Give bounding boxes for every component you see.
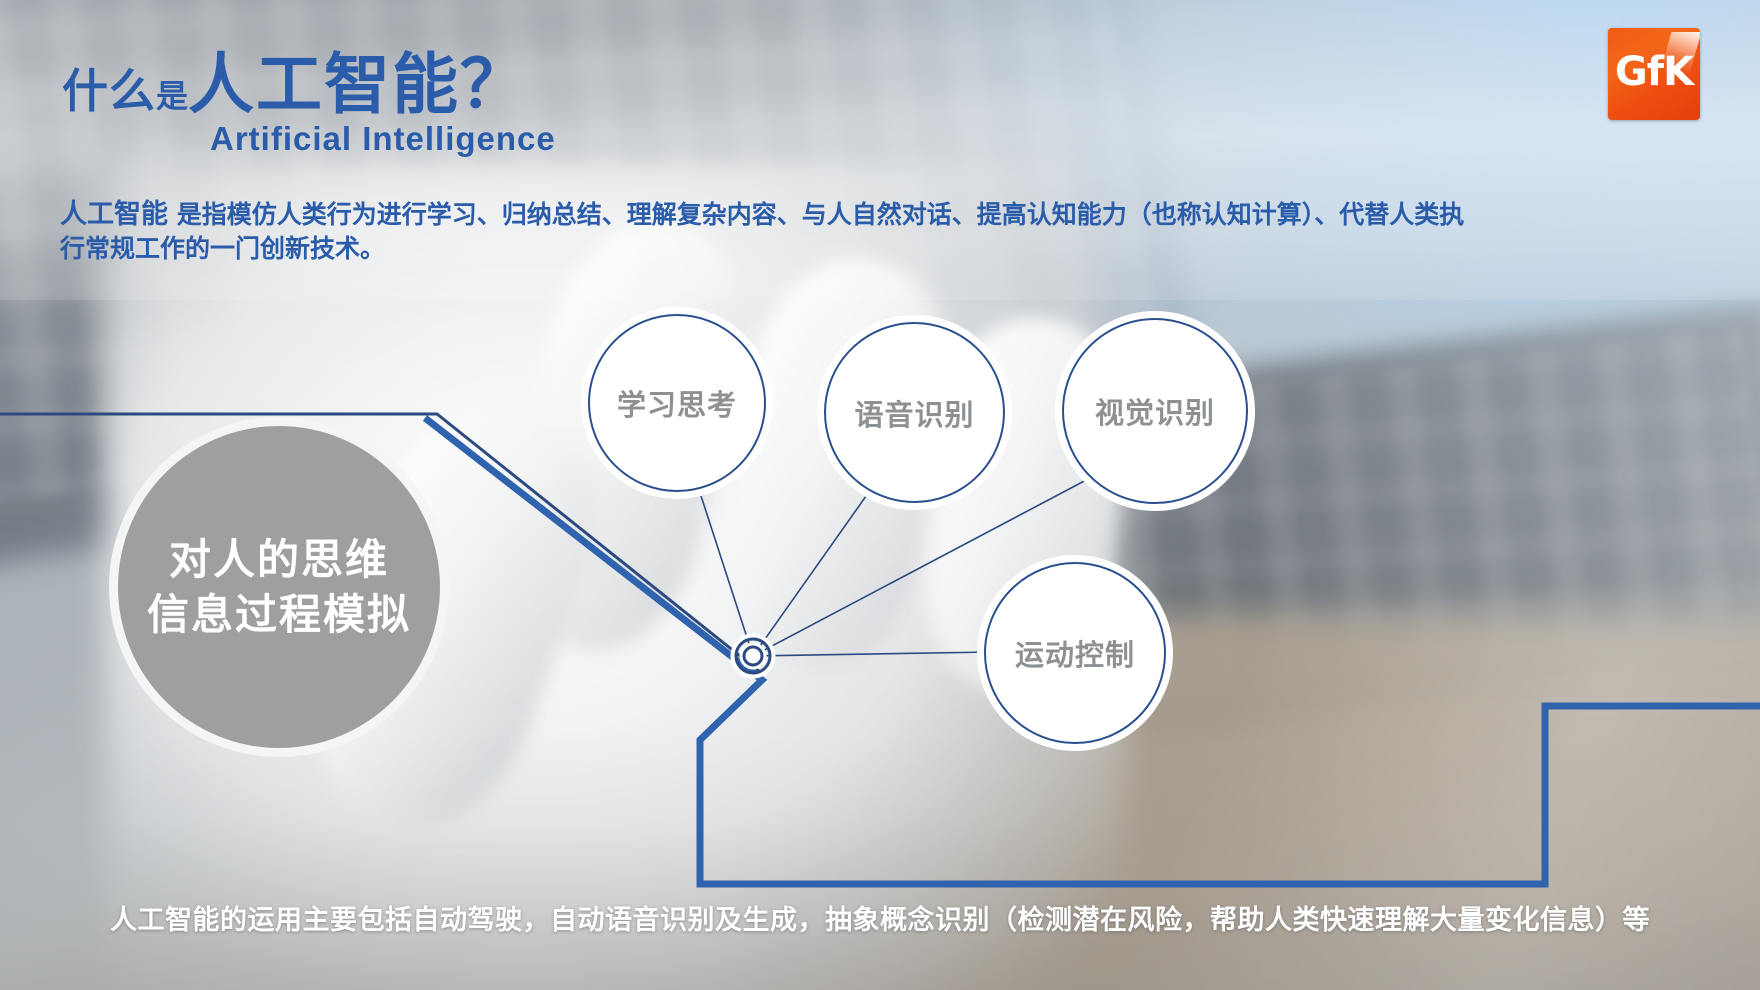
capability-node-vision[interactable]: 视觉识别 xyxy=(1062,318,1248,504)
capability-node-label: 视觉识别 xyxy=(1095,390,1215,432)
footer-caption: 人工智能的运用主要包括自动驾驶，自动语音识别及生成，抽象概念识别（检测潜在风险，… xyxy=(0,898,1760,937)
hub-to-node-4 xyxy=(753,652,992,656)
hub-to-node-1 xyxy=(690,462,753,656)
slide-canvas: GfK 什么是人工智能？ Artificial Intelligence 人工智… xyxy=(0,0,1760,990)
capability-node-motion[interactable]: 运动控制 xyxy=(984,562,1166,744)
concept-node-main[interactable]: 对人的思维 信息过程模拟 xyxy=(118,426,440,748)
capability-node-label: 学习思考 xyxy=(617,382,737,424)
hub-to-node-2 xyxy=(753,482,876,656)
capability-node-label: 语音识别 xyxy=(854,392,974,434)
capability-node-speech[interactable]: 语音识别 xyxy=(824,322,1005,503)
capability-node-learning[interactable]: 学习思考 xyxy=(588,314,766,492)
concept-node-main-line1: 对人的思维 xyxy=(169,532,389,587)
capability-node-label: 运动控制 xyxy=(1015,632,1135,674)
concept-node-main-line2: 信息过程模拟 xyxy=(147,587,411,642)
